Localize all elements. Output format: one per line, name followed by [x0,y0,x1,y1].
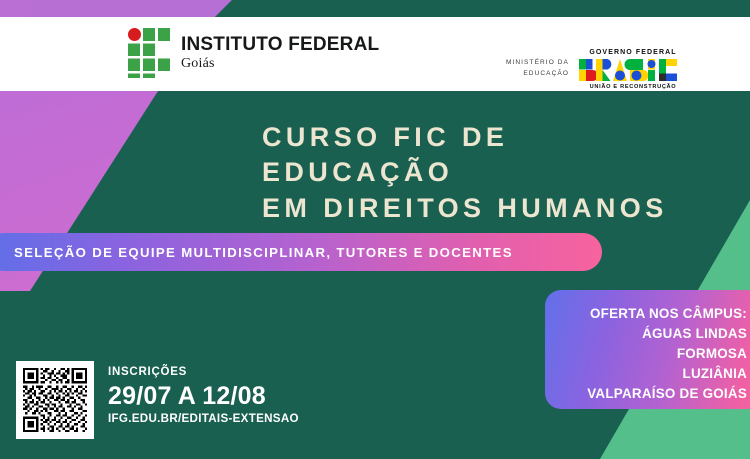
header-bar: INSTITUTO FEDERAL Goiás MINISTÉRIO DA ED… [0,17,750,91]
page-title: CURSO FIC DE EDUCAÇÃO EM DIREITOS HUMANO… [262,120,732,226]
brasil-wordmark-icon [578,58,688,82]
selection-banner: SELEÇÃO DE EQUIPE MULTIDISCIPLINAR, TUTO… [0,233,602,271]
ministry-label: MINISTÉRIO DA EDUCAÇÃO [487,57,569,80]
campus-item: VALPARAÍSO DE GOIÁS [555,384,747,404]
institute-name-line2: Goiás [181,57,379,71]
enrollment-label: INSCRIÇÕES [108,366,299,379]
campus-list-box: OFERTA NOS CÂMPUS: ÁGUAS LINDAS FORMOSA … [545,290,750,409]
enrollment-url[interactable]: IFG.EDU.BR/EDITAIS-EXTENSAO [108,413,299,426]
campus-heading: OFERTA NOS CÂMPUS: [555,304,747,324]
ministry-line2: EDUCAÇÃO [487,68,569,79]
enrollment-info: INSCRIÇÕES 29/07 A 12/08 IFG.EDU.BR/EDIT… [108,366,299,426]
qr-code-icon [23,368,87,432]
poster-canvas: INSTITUTO FEDERAL Goiás MINISTÉRIO DA ED… [0,0,750,459]
selection-banner-text: SELEÇÃO DE EQUIPE MULTIDISCIPLINAR, TUTO… [14,245,513,260]
gov-federal-top-label: GOVERNO FEDERAL [578,49,688,56]
campus-item: FORMOSA [555,344,747,364]
ministry-line1: MINISTÉRIO DA [487,57,569,68]
campus-item: ÁGUAS LINDAS [555,324,747,344]
instituto-federal-wordmark: INSTITUTO FEDERAL Goiás [181,35,379,71]
enrollment-dates: 29/07 A 12/08 [108,383,299,409]
gov-federal-bottom-label: UNIÃO E RECONSTRUÇÃO [578,84,688,90]
campus-item: LUZIÂNIA [555,364,747,384]
instituto-federal-logo: INSTITUTO FEDERAL Goiás [128,28,379,78]
instituto-federal-mark-icon [128,28,172,78]
qr-code[interactable] [16,361,94,439]
governo-federal-logo: GOVERNO FEDERAL [578,49,688,90]
institute-name-line1: INSTITUTO FEDERAL [181,35,379,54]
